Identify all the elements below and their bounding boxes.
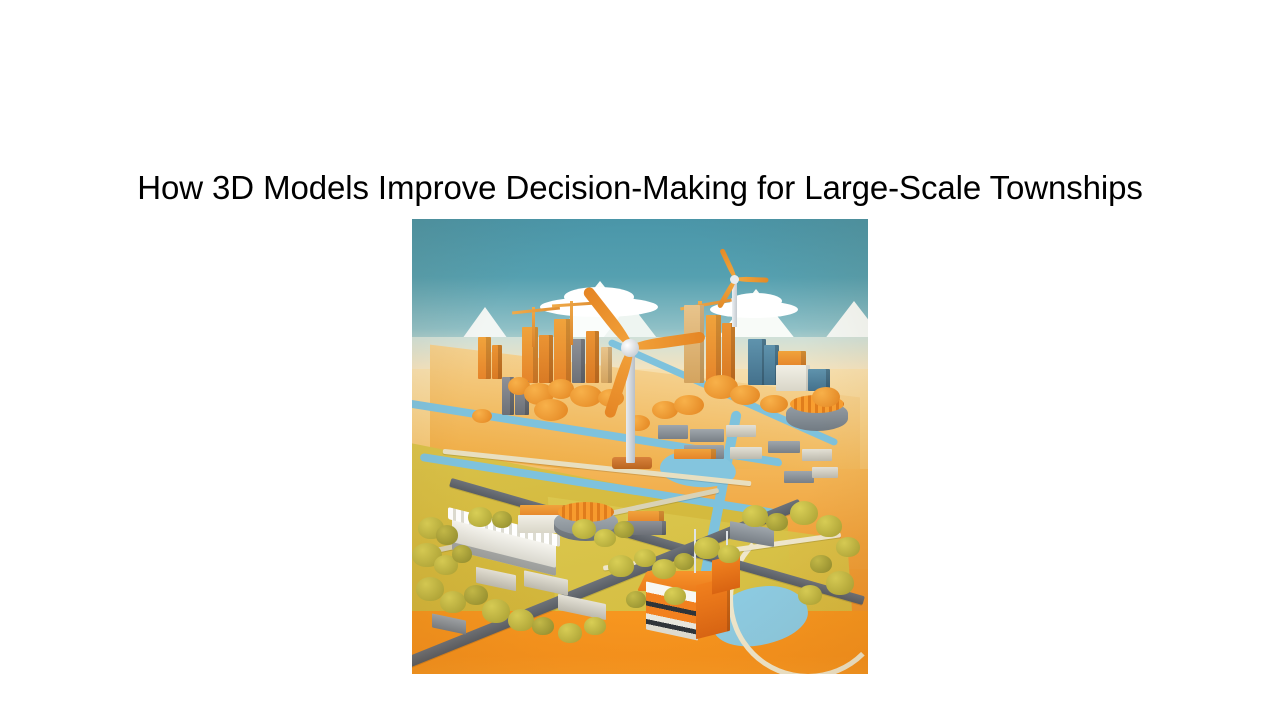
- industrial-block: [768, 441, 800, 453]
- tree-icon: [826, 571, 854, 595]
- tower-block: [522, 327, 538, 383]
- turbine-hub: [621, 339, 639, 357]
- industrial-block: [730, 447, 762, 459]
- tower-block: [586, 331, 599, 383]
- tree-icon: [558, 623, 582, 643]
- slide-canvas: How 3D Models Improve Decision-Making fo…: [0, 0, 1280, 720]
- arena-building: [786, 401, 848, 431]
- cloud-icon: [730, 293, 782, 309]
- tree-icon: [464, 585, 488, 605]
- tower-block: [572, 339, 585, 383]
- tree-icon: [440, 591, 466, 613]
- tree-icon: [810, 555, 832, 573]
- tree-icon: [468, 507, 492, 527]
- tree-icon: [766, 513, 788, 531]
- tree-icon: [816, 515, 842, 537]
- tree-icon: [572, 519, 596, 539]
- industrial-block: [784, 471, 814, 483]
- foliage-cluster: [730, 385, 760, 405]
- tree-icon: [508, 609, 534, 631]
- foliage-cluster: [472, 409, 492, 423]
- tree-icon: [584, 617, 606, 635]
- tower-block: [554, 319, 571, 383]
- turbine-hub: [730, 275, 739, 284]
- tree-icon: [482, 599, 510, 623]
- tower-block: [539, 335, 553, 383]
- foliage-cluster: [534, 399, 568, 421]
- tree-icon: [594, 529, 616, 547]
- township-illustration: [412, 219, 868, 674]
- tree-icon: [436, 525, 458, 545]
- tree-icon: [626, 591, 646, 608]
- tree-icon: [664, 587, 686, 605]
- tower-block: [478, 337, 491, 379]
- tower-block: [492, 345, 502, 379]
- tower-under-construction: [706, 315, 721, 383]
- foliage-cluster: [812, 387, 840, 407]
- tower-under-construction: [722, 323, 735, 383]
- tree-icon: [614, 521, 634, 538]
- tree-icon: [532, 617, 554, 635]
- tree-icon: [790, 501, 818, 525]
- crane-icon: [532, 307, 535, 347]
- tree-icon: [836, 537, 860, 557]
- industrial-block: [726, 425, 756, 437]
- crane-icon: [570, 301, 573, 345]
- tree-icon: [492, 511, 512, 528]
- tree-icon: [694, 537, 720, 559]
- tree-icon: [718, 545, 740, 563]
- tree-icon: [652, 559, 676, 579]
- industrial-block: [690, 429, 724, 442]
- tree-icon: [608, 555, 634, 577]
- orange-roof-block: [674, 449, 716, 459]
- industrial-block: [812, 467, 838, 478]
- tree-icon: [742, 505, 768, 527]
- landmark-building: [642, 571, 730, 633]
- foliage-cluster: [674, 395, 704, 415]
- tree-icon: [674, 553, 694, 570]
- tower-block: [601, 347, 612, 383]
- page-title: How 3D Models Improve Decision-Making fo…: [0, 168, 1280, 208]
- foliage-cluster: [760, 395, 788, 413]
- industrial-block: [802, 449, 832, 461]
- industrial-block: [658, 425, 688, 439]
- tree-icon: [452, 545, 472, 563]
- office-block: [776, 365, 810, 391]
- tree-icon: [798, 585, 822, 605]
